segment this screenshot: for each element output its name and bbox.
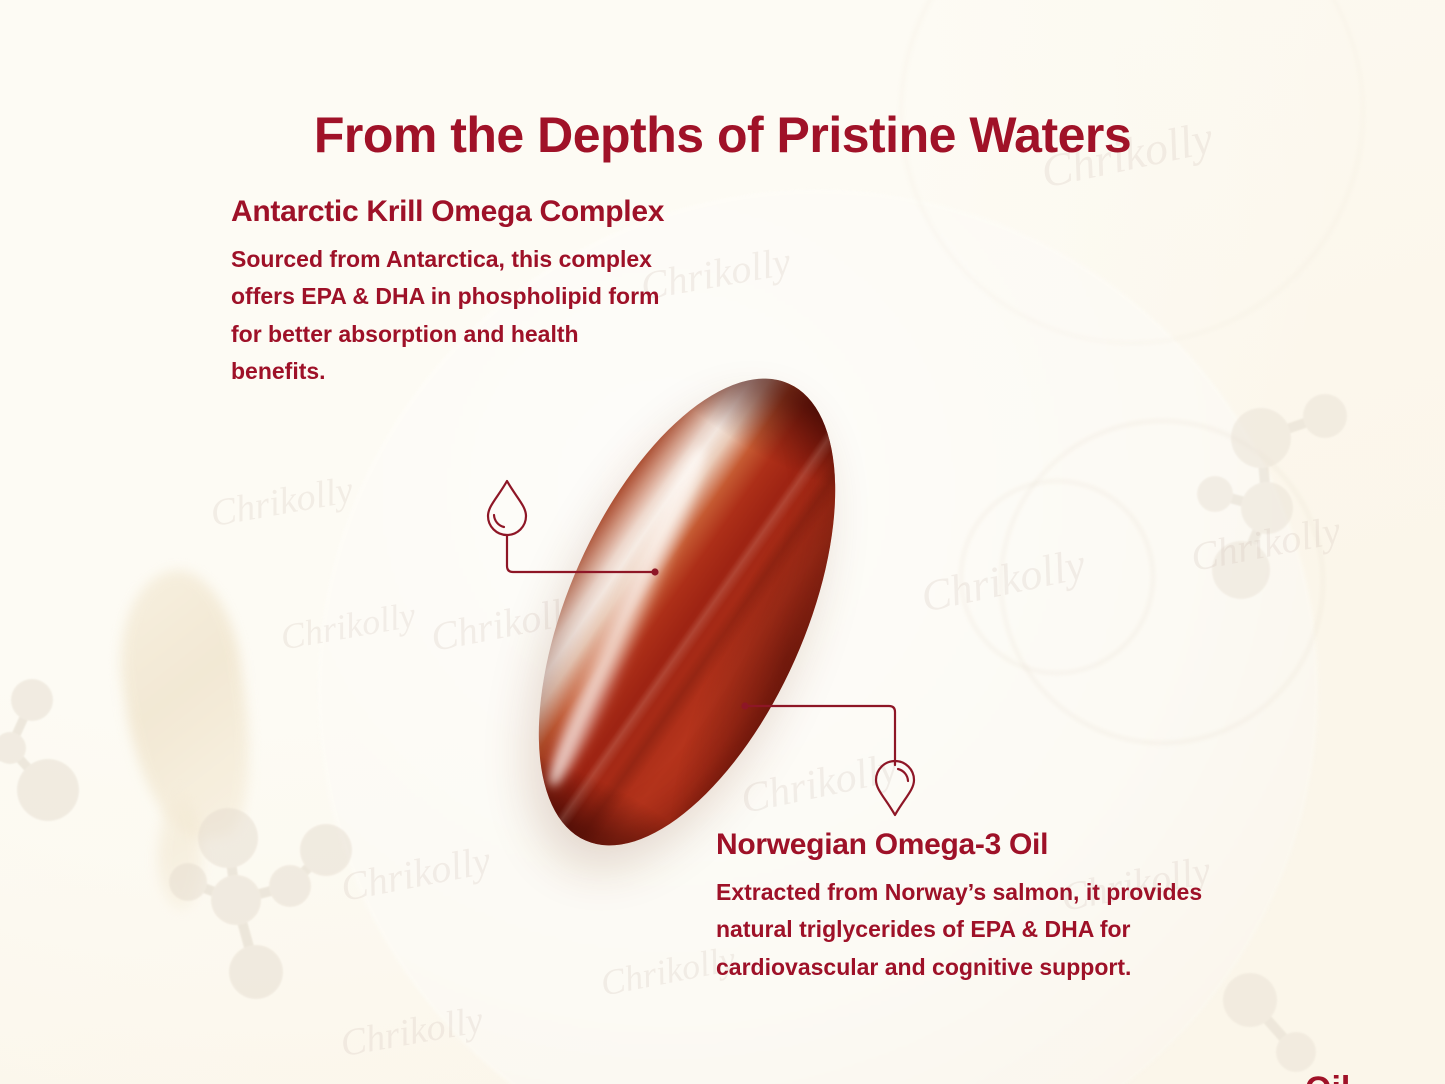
norway-body: Extracted from Norway’s salmon, it provi… <box>716 874 1256 986</box>
molecule-icon-right-upper <box>1185 390 1435 620</box>
norway-heading: Norwegian Omega-3 Oil <box>716 828 1256 862</box>
bottom-cropped-text: Oil <box>1305 1072 1350 1084</box>
background-ring-small <box>960 480 1154 674</box>
capsule-body <box>478 336 897 889</box>
krill-info-block: Antarctic Krill Omega Complex Sourced fr… <box>231 195 671 391</box>
norway-info-block: Norwegian Omega-3 Oil Extracted from Nor… <box>716 828 1256 986</box>
krill-body: Sourced from Antarctica, this complex of… <box>231 241 671 391</box>
page-title: From the Depths of Pristine Waters <box>0 106 1445 164</box>
watermark: Chrikolly <box>207 468 356 536</box>
infographic-canvas: Chrikolly Chrikolly Chrikolly Chrikolly … <box>0 0 1445 1084</box>
molecule-icon-left-lower <box>140 790 380 1010</box>
omega-3-softgel-capsule <box>487 352 887 872</box>
krill-heading: Antarctic Krill Omega Complex <box>231 195 671 229</box>
